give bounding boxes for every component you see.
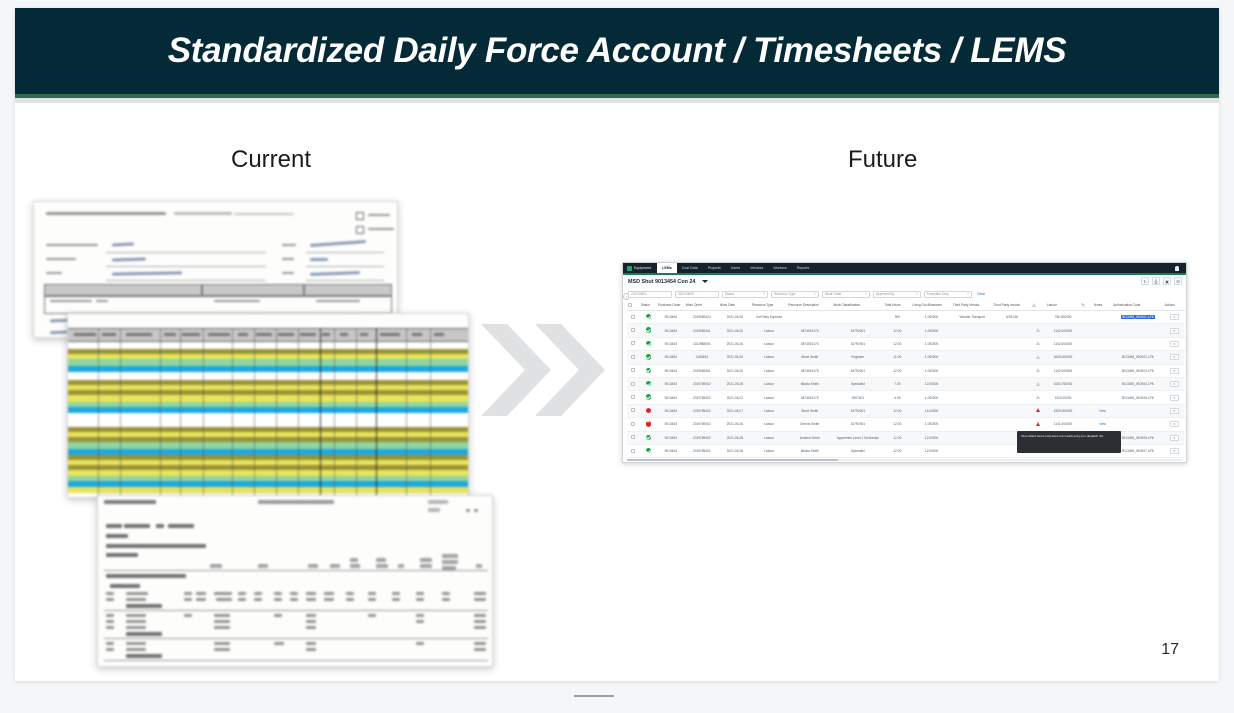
- row-actions[interactable]: ▾: [1163, 418, 1185, 431]
- row-living-out-allowance: 1.000000: [911, 351, 952, 364]
- row-purchase-order: 9013454: [657, 444, 685, 457]
- row-resource-type: Labour: [751, 364, 787, 377]
- row-resource-description: [787, 311, 832, 324]
- row-purchase-order: 9013454: [657, 391, 685, 404]
- row-living-out-allowance: 12.00000: [911, 444, 952, 457]
- row-total-hours: 11.00: [883, 351, 911, 364]
- slide-footer-rule: [574, 695, 614, 697]
- row-attachment[interactable]: [1080, 404, 1093, 417]
- warning-triangle-icon[interactable]: [1036, 422, 1040, 426]
- row-exception: [1031, 404, 1046, 417]
- row-resource-description: Steve Smith: [787, 404, 832, 417]
- row-actions-button[interactable]: ▾: [1170, 448, 1179, 454]
- row-notes[interactable]: [1093, 391, 1112, 404]
- row-resource-description: Andrew Smith: [787, 431, 832, 444]
- col-status[interactable]: Status: [640, 300, 657, 311]
- row-status: [640, 444, 657, 457]
- row-third-party-vendor: [952, 351, 993, 364]
- row-work-classification: Specialist: [832, 444, 883, 457]
- app-titlebar: MSD Shut 9013454 Con 24: [623, 275, 1186, 288]
- app-navbar: Equipment LEMs Cost Data Projects Users …: [623, 263, 1186, 275]
- row-status: [640, 404, 657, 417]
- nav-item-cost-data[interactable]: Cost Data: [677, 263, 703, 273]
- col-attachment: 📎: [1080, 300, 1093, 311]
- warning-triangle-icon[interactable]: [1036, 368, 1040, 372]
- nav-item-reports[interactable]: Reports: [792, 263, 815, 273]
- row-resource-description: 0874519175: [787, 364, 832, 377]
- check-circle-icon: [646, 435, 651, 440]
- row-status: [640, 418, 657, 431]
- row-labour: 1063.750000: [1046, 377, 1080, 390]
- col-work-classification[interactable]: Work Classification: [832, 300, 883, 311]
- row-work-order: 2019789402: [685, 444, 719, 457]
- row-total-hours: 12.00: [883, 364, 911, 377]
- row-attachment[interactable]: [1080, 418, 1093, 431]
- row-actions-button[interactable]: ▾: [1170, 328, 1179, 334]
- row-third-party-vendor: Wonder Transport: [952, 311, 993, 324]
- select-all-checkbox[interactable]: [628, 303, 632, 307]
- row-work-date: 2021-06-20: [719, 324, 751, 337]
- resource-type-filter[interactable]: Resource Type ˅: [771, 291, 819, 298]
- auth-code-selected: 9013454_WO001-LPK: [1121, 315, 1155, 319]
- row-actions[interactable]: ▾: [1163, 444, 1185, 457]
- check-circle-icon: [646, 394, 651, 399]
- row-third-party-vendor: [952, 324, 993, 337]
- row-resource-type: Labour: [751, 444, 787, 457]
- approved-by-filter[interactable]: Approved By ˅: [873, 291, 921, 298]
- row-actions[interactable]: ▾: [1163, 324, 1185, 337]
- row-resource-description: 0874519175: [787, 337, 832, 350]
- row-checkbox[interactable]: [627, 444, 640, 457]
- row-checkbox[interactable]: [631, 315, 635, 319]
- row-resource-description: Dennis Smith: [787, 418, 832, 431]
- warning-triangle-icon[interactable]: [1036, 382, 1040, 386]
- exception-tooltip: Time billed hours (12) does not match en…: [1017, 431, 1121, 453]
- warning-triangle-icon[interactable]: [1036, 328, 1040, 332]
- row-third-party-invoice: [992, 351, 1030, 364]
- nav-item-lems[interactable]: LEMs: [657, 263, 677, 273]
- col-labour[interactable]: Labour: [1046, 300, 1080, 311]
- row-status: [640, 377, 657, 390]
- row-total-hours: 7.00: [883, 377, 911, 390]
- check-circle-icon: [646, 341, 651, 346]
- row-attachment[interactable]: [1080, 377, 1093, 390]
- table-row[interactable]: 901345420190894012021-06-20Labour0874519…: [627, 364, 1185, 377]
- check-circle-icon: [646, 314, 651, 319]
- table-header-row: Status Purchase Order Work Order Work Da…: [627, 300, 1185, 311]
- row-total-hours: 900: [883, 311, 911, 324]
- table-row[interactable]: 901345420190894012021-06-20Labour0874519…: [627, 324, 1185, 337]
- row-living-out-allowance: 14.00000: [911, 404, 952, 417]
- row-purchase-order: 9013454: [657, 337, 685, 350]
- chevron-down-icon: ˅: [763, 292, 765, 296]
- exception-filter[interactable]: Exception Only ˅: [924, 291, 972, 298]
- row-third-party-invoice: [992, 337, 1030, 350]
- row-status: [640, 324, 657, 337]
- row-checkbox[interactable]: [627, 404, 640, 417]
- row-checkbox[interactable]: [627, 351, 640, 364]
- filter-bar: 2021/06/01 2021/06/30 Status ˅ Resource …: [623, 289, 1186, 299]
- check-circle-icon: [646, 368, 651, 373]
- row-resource-description: 0874519175: [787, 391, 832, 404]
- row-living-out-allowance: 12.00000: [911, 431, 952, 444]
- row-actions[interactable]: ▾: [1163, 351, 1185, 364]
- row-actions-button[interactable]: ▾: [1170, 314, 1179, 320]
- scanned-labour-report: [97, 495, 493, 667]
- row-work-date: 2021-06-26: [719, 418, 751, 431]
- row-third-party-invoice: IV02148: [992, 311, 1030, 324]
- row-work-order: 2019789402: [685, 377, 719, 390]
- col-purchase-order[interactable]: Purchase Order: [657, 300, 685, 311]
- row-work-classification: 1679V001: [832, 324, 883, 337]
- table-row[interactable]: 901345420197894022021-06-22Labour0874519…: [627, 391, 1185, 404]
- warning-triangle-icon[interactable]: [1036, 341, 1040, 345]
- warning-triangle-icon[interactable]: [1036, 395, 1040, 399]
- warning-triangle-icon[interactable]: [1036, 355, 1040, 359]
- row-purchase-order: 9013454: [657, 418, 685, 431]
- date-from-filter-value: 2021/06/01: [631, 292, 647, 296]
- table-row[interactable]: 901345420190894242021-06-203rd Party Exp…: [627, 311, 1185, 324]
- row-purchase-order: 9013454: [657, 324, 685, 337]
- row-third-party-vendor: [952, 418, 993, 431]
- row-status: [640, 391, 657, 404]
- row-labour: 1525.000000: [1046, 404, 1080, 417]
- check-circle-icon: [646, 448, 651, 453]
- chevron-down-icon[interactable]: [702, 280, 708, 283]
- row-checkbox[interactable]: [627, 418, 640, 431]
- row-purchase-order: 9013454: [657, 351, 685, 364]
- row-checkbox[interactable]: [627, 431, 640, 444]
- row-labour: 1141.000000: [1046, 418, 1080, 431]
- row-third-party-invoice: [992, 364, 1030, 377]
- print-icon[interactable]: ⎙: [1152, 277, 1160, 285]
- row-authorization-code: [1112, 404, 1163, 417]
- work-order-filter-value: Work Order: [825, 292, 841, 296]
- row-actions-button[interactable]: ▾: [1170, 408, 1179, 414]
- row-labour: 1142.000000: [1046, 337, 1080, 350]
- col-notes[interactable]: Notes: [1093, 300, 1112, 311]
- row-third-party-vendor: [952, 404, 993, 417]
- row-third-party-invoice: [992, 324, 1030, 337]
- row-labour: 1142.000000: [1046, 324, 1080, 337]
- row-resource-type: Labour: [751, 351, 787, 364]
- row-checkbox[interactable]: [631, 328, 635, 332]
- row-work-classification: [832, 311, 883, 324]
- row-status: [640, 431, 657, 444]
- row-work-classification: 0907401: [832, 391, 883, 404]
- row-total-hours: 12.00: [883, 444, 911, 457]
- scanned-timesheet-spreadsheet: [67, 313, 469, 498]
- row-exception: [1031, 311, 1046, 324]
- col-exception: [1031, 300, 1046, 311]
- row-living-out-allowance: 1.000000: [911, 418, 952, 431]
- row-status: [640, 337, 657, 350]
- row-work-classification: 1679V001: [832, 404, 883, 417]
- notes-link[interactable]: View: [1099, 409, 1106, 413]
- chevron-down-icon: ˅: [865, 292, 867, 296]
- row-actions-button[interactable]: ▾: [1170, 421, 1179, 427]
- row-notes[interactable]: [1093, 337, 1112, 350]
- row-checkbox[interactable]: [631, 341, 635, 345]
- row-total-hours: 12.00: [883, 431, 911, 444]
- row-work-date: 2021-06-27: [719, 404, 751, 417]
- row-resource-type: Labour: [751, 337, 787, 350]
- row-exception: [1031, 337, 1046, 350]
- row-actions-button[interactable]: ▾: [1170, 368, 1179, 374]
- row-actions[interactable]: ▾: [1163, 391, 1185, 404]
- row-resource-type: Labour: [751, 404, 787, 417]
- check-circle-icon: [646, 354, 651, 359]
- row-attachment[interactable]: [1080, 324, 1093, 337]
- x-circle-icon: [646, 408, 651, 413]
- col-third-party-invoice[interactable]: Third Party Invoice: [992, 300, 1030, 311]
- row-authorization-code: [1112, 418, 1163, 431]
- row-actions[interactable]: ▾: [1163, 377, 1185, 390]
- row-labour: 1142.000000: [1046, 364, 1080, 377]
- nav-item-vendors[interactable]: Vendors: [745, 263, 768, 273]
- slide-canvas: Standardized Daily Force Account / Times…: [15, 8, 1219, 681]
- row-work-order: 2019789402: [685, 391, 719, 404]
- row-checkbox[interactable]: [631, 449, 635, 453]
- row-checkbox[interactable]: [627, 311, 640, 324]
- row-total-hours: 12.00: [883, 337, 911, 350]
- row-resource-type: Labour: [751, 391, 787, 404]
- columns-icon[interactable]: ☰: [1174, 277, 1182, 285]
- refresh-icon[interactable]: ↻: [1141, 277, 1149, 285]
- row-attachment[interactable]: [1080, 364, 1093, 377]
- row-living-out-allowance: 1.000000: [911, 324, 952, 337]
- row-living-out-allowance: 1.000000: [911, 391, 952, 404]
- paperclip-icon: 📎: [1081, 303, 1085, 307]
- table-row[interactable]: 901345420197894022021-06-27LabourSteve S…: [627, 404, 1185, 417]
- col-work-date[interactable]: Work Date: [719, 300, 751, 311]
- row-work-date: 2021-06-22: [719, 391, 751, 404]
- check-circle-icon: [646, 381, 651, 386]
- col-total-hours[interactable]: Total Hours: [883, 300, 911, 311]
- row-work-order: 2019089401: [685, 324, 719, 337]
- row-third-party-invoice: [992, 418, 1030, 431]
- row-checkbox[interactable]: [627, 324, 640, 337]
- status-filter-value: Status: [725, 292, 734, 296]
- column-heading-future: Future: [848, 146, 917, 174]
- row-labour: 1022.00000: [1046, 391, 1080, 404]
- slide-root: Standardized Daily Force Account / Times…: [0, 0, 1234, 713]
- row-status: [640, 311, 657, 324]
- col-work-order[interactable]: Work Order: [685, 300, 719, 311]
- row-work-order: 2019789402: [685, 404, 719, 417]
- row-actions[interactable]: ▾: [1163, 337, 1185, 350]
- row-third-party-invoice: [992, 391, 1030, 404]
- row-work-order: 1102988054: [685, 337, 719, 350]
- row-purchase-order: 9013454: [657, 311, 685, 324]
- row-authorization-code: 9013454_WO005-LPK: [1112, 391, 1163, 404]
- row-resource-description: 0874519175: [787, 324, 832, 337]
- row-exception: [1031, 391, 1046, 404]
- col-authorization-code[interactable]: Authorization Code: [1112, 300, 1163, 311]
- resource-type-filter-value: Resource Type: [774, 292, 795, 296]
- row-checkbox[interactable]: [627, 364, 640, 377]
- app-brand[interactable]: Equipment: [627, 266, 651, 271]
- row-third-party-vendor: [952, 377, 993, 390]
- row-actions-button[interactable]: ▾: [1170, 395, 1179, 401]
- row-checkbox[interactable]: [631, 355, 635, 359]
- row-exception: [1031, 377, 1046, 390]
- row-work-classification: 1679V001: [832, 418, 883, 431]
- notes-link[interactable]: View: [1099, 422, 1106, 426]
- row-authorization-code: [1112, 324, 1163, 337]
- row-attachment[interactable]: [1080, 391, 1093, 404]
- row-resource-description: Mickla Smith: [787, 377, 832, 390]
- row-actions[interactable]: ▾: [1163, 311, 1185, 324]
- row-actions[interactable]: ▾: [1163, 404, 1185, 417]
- table-row[interactable]: 901345420197894022021-06-25LabourMickla …: [627, 377, 1185, 390]
- row-work-order: 2183454: [685, 351, 719, 364]
- row-notes[interactable]: View: [1093, 404, 1112, 417]
- horizontal-scrollbar[interactable]: [627, 459, 1183, 462]
- row-notes[interactable]: [1093, 311, 1112, 324]
- chevron-down-icon: ˅: [814, 292, 816, 296]
- row-work-order: 2019089424: [685, 311, 719, 324]
- row-exception: [1031, 418, 1046, 431]
- row-work-order: 2019789402: [685, 418, 719, 431]
- row-exception: [1031, 324, 1046, 337]
- row-actions[interactable]: ▾: [1163, 364, 1185, 377]
- col-actions: Actions: [1163, 300, 1185, 311]
- warning-triangle-icon[interactable]: [1036, 408, 1040, 412]
- row-notes[interactable]: [1093, 324, 1112, 337]
- row-checkbox[interactable]: [631, 382, 635, 386]
- row-resource-type: Labour: [751, 431, 787, 444]
- row-checkbox[interactable]: [627, 377, 640, 390]
- app-logo-icon: [627, 266, 632, 271]
- column-heading-current: Current: [231, 146, 311, 174]
- row-checkbox[interactable]: [627, 337, 640, 350]
- row-resource-type: Labour: [751, 418, 787, 431]
- row-actions-button[interactable]: ▾: [1170, 435, 1179, 441]
- status-filter[interactable]: Status ˅: [722, 291, 768, 298]
- row-work-date: 2021-06-25: [719, 431, 751, 444]
- nav-item-workers[interactable]: Workers: [768, 263, 791, 273]
- row-checkbox[interactable]: [631, 395, 635, 399]
- row-living-out-allowance: 12.00000: [911, 377, 952, 390]
- col-living-out-allowance[interactable]: Living Out Allowance: [911, 300, 952, 311]
- nav-item-users[interactable]: Users: [726, 263, 745, 273]
- row-living-out-allowance: 1.000000: [911, 364, 952, 377]
- row-checkbox[interactable]: [631, 435, 635, 439]
- row-living-out-allowance: 1.000000: [911, 311, 952, 324]
- future-app-screenshot: Equipment LEMs Cost Data Projects Users …: [622, 262, 1187, 463]
- double-chevron-right-icon: [477, 320, 607, 420]
- row-notes[interactable]: [1093, 364, 1112, 377]
- chevron-down-icon: ˅: [916, 292, 918, 296]
- row-total-hours: 12.00: [883, 404, 911, 417]
- row-work-classification: 1679V001: [832, 337, 883, 350]
- app-toolbar: ↻ ⎙ ▣ ☰: [1141, 277, 1182, 285]
- col-third-party-vendor[interactable]: Third Party Vendor: [952, 300, 993, 311]
- warning-triangle-icon: [1032, 303, 1036, 307]
- approved-by-filter-value: Approved By: [876, 292, 894, 296]
- date-to-filter[interactable]: 2021/06/30: [675, 291, 719, 298]
- row-third-party-vendor: [952, 364, 993, 377]
- notifications-bell-icon[interactable]: [1175, 266, 1179, 271]
- slide-page-number: 17: [1161, 641, 1179, 659]
- table-row[interactable]: 901345421834542021-06-20LabourSteve Smit…: [627, 351, 1185, 364]
- row-actions-button[interactable]: ▾: [1170, 354, 1179, 360]
- row-resource-type: Labour: [751, 377, 787, 390]
- page-title: Standardized Daily Force Account / Times…: [15, 8, 1219, 94]
- row-checkbox[interactable]: [631, 422, 635, 426]
- row-third-party-vendor: [952, 431, 993, 444]
- row-authorization-code: [1112, 337, 1163, 350]
- row-authorization-code: 9013454_WO001-LPK: [1112, 311, 1163, 324]
- row-purchase-order: 9013454: [657, 404, 685, 417]
- row-work-classification: Apprentice Level 1 Technician: [832, 431, 883, 444]
- row-resource-type: 3rd Party Expense: [751, 311, 787, 324]
- row-work-classification: Engineer: [832, 351, 883, 364]
- row-third-party-invoice: [992, 404, 1030, 417]
- app-brand-label: Equipment: [634, 266, 651, 270]
- row-authorization-code: 9013454_WO004-LPK: [1112, 377, 1163, 390]
- row-attachment[interactable]: [1080, 337, 1093, 350]
- row-attachment[interactable]: [1080, 311, 1093, 324]
- row-notes[interactable]: [1093, 351, 1112, 364]
- row-actions-button[interactable]: ▾: [1170, 381, 1179, 387]
- row-notes[interactable]: [1093, 377, 1112, 390]
- table-row[interactable]: 901345420197894022021-06-26LabourDennis …: [627, 418, 1185, 431]
- row-work-classification: 1679V001: [832, 364, 883, 377]
- row-authorization-code: 9013454_WO002-LPK: [1112, 351, 1163, 364]
- row-total-hours: 12.00: [883, 418, 911, 431]
- row-work-date: 2021-06-25: [719, 377, 751, 390]
- app-page-title: MSD Shut 9013454 Con 24: [628, 279, 695, 285]
- chevron-down-icon: ˅: [967, 292, 969, 296]
- row-actions-button[interactable]: ▾: [1170, 341, 1179, 347]
- row-purchase-order: 9013454: [657, 431, 685, 444]
- row-actions[interactable]: ▾: [1163, 431, 1185, 444]
- row-total-hours: 4.00: [883, 391, 911, 404]
- row-third-party-vendor: [952, 337, 993, 350]
- date-to-filter-value: 2021/06/30: [678, 292, 694, 296]
- row-purchase-order: 9013454: [657, 377, 685, 390]
- row-checkbox[interactable]: [631, 368, 635, 372]
- row-checkbox[interactable]: [627, 391, 640, 404]
- row-third-party-invoice: [992, 377, 1030, 390]
- clear-filters-button[interactable]: Clear: [977, 292, 985, 296]
- nav-item-projects[interactable]: Projects: [703, 263, 726, 273]
- col-resource-type[interactable]: Resource Type: [751, 300, 787, 311]
- row-notes[interactable]: View: [1093, 418, 1112, 431]
- row-work-order: 2019089401: [685, 364, 719, 377]
- table-row[interactable]: 901345411029880542021-06-26Labour0874519…: [627, 337, 1185, 350]
- date-from-filter[interactable]: 2021/06/01: [628, 291, 672, 298]
- row-purchase-order: 9013454: [657, 364, 685, 377]
- work-order-filter[interactable]: Work Order ˅: [822, 291, 870, 298]
- row-work-date: 2021-06-26: [719, 444, 751, 457]
- row-work-order: 2019789402: [685, 431, 719, 444]
- export-icon[interactable]: ▣: [1163, 277, 1171, 285]
- row-work-date: 2021-06-20: [719, 364, 751, 377]
- row-living-out-allowance: 1.000000: [911, 337, 952, 350]
- row-exception: [1031, 351, 1046, 364]
- row-labour: 756.000000: [1046, 311, 1080, 324]
- row-attachment[interactable]: [1080, 351, 1093, 364]
- row-work-classification: Specialist: [832, 377, 883, 390]
- check-circle-icon: [646, 327, 651, 332]
- col-resource-description[interactable]: Resource Description: [787, 300, 832, 311]
- row-work-date: 2021-06-20: [719, 311, 751, 324]
- row-labour: 2625.000000: [1046, 351, 1080, 364]
- row-checkbox[interactable]: [631, 408, 635, 412]
